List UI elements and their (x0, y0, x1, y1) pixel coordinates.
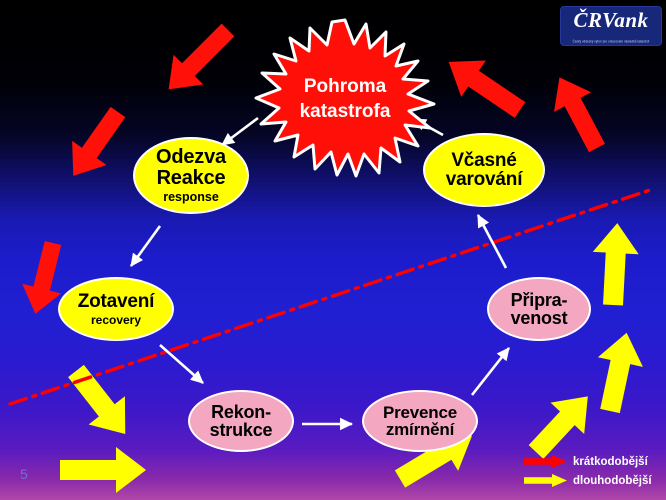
legend-label-short-term: krátkodobější (573, 456, 648, 468)
node-zotaveni-sub: recovery (91, 314, 141, 326)
legend-item-short-term: krátkodobější (524, 452, 662, 471)
burst-shape (256, 20, 434, 176)
crvank-logo: ČRVank Český vědecký výbor pro omezování… (560, 6, 662, 46)
legend-label-long-term: dlouhodobější (573, 475, 652, 487)
node-odezva-main: Odezva Reakce (156, 147, 226, 188)
legend-red-arrow-icon (524, 455, 568, 468)
node-zotaveni[interactable]: Zotavení recovery (58, 277, 174, 341)
node-rekonstrukce[interactable]: Rekon- strukce (188, 390, 294, 452)
connector-prevence-to-pripravenost (472, 348, 509, 395)
node-vcasne-main: Včasné varování (446, 151, 523, 190)
legend-yellow-arrow-icon (524, 474, 568, 487)
connector-odezva-to-zotaveni (131, 226, 160, 266)
slide-number: 5 (20, 466, 28, 482)
node-prevence-zmirneni[interactable]: Prevence zmírnění (362, 390, 478, 452)
legend-item-long-term: dlouhodobější (524, 471, 662, 490)
node-odezva-reakce[interactable]: Odezva Reakce response (133, 137, 249, 214)
logo-subtitle: Český vědecký výbor pro omezování násled… (561, 39, 661, 44)
connector-zotaveni-to-rekonstrukce (160, 345, 203, 383)
disaster-burst: Pohroma katastrofa (253, 18, 437, 178)
node-rekonstrukce-main: Rekon- strukce (210, 403, 273, 440)
node-zotaveni-main: Zotavení (78, 292, 155, 311)
connector-pripravenost-to-vcasne (478, 215, 506, 268)
node-odezva-sub: response (163, 191, 219, 204)
node-prevence-main: Prevence zmírnění (383, 404, 457, 439)
node-pripravenost-main: Připra- venost (511, 291, 568, 328)
logo-wordmark: ČRVank (561, 7, 661, 33)
node-vcasne-varovani[interactable]: Včasné varování (423, 133, 545, 207)
legend: krátkodobější dlouhodobější (524, 452, 662, 490)
slide-canvas: Pohroma katastrofa Odezva Reakce respons… (0, 0, 666, 500)
node-pripravenost[interactable]: Připra- venost (487, 277, 591, 341)
